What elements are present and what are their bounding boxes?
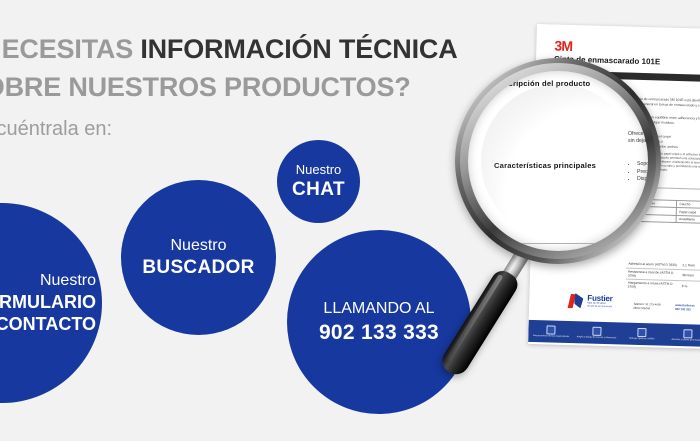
circle-buscador-bottom: BUSCADOR [142,256,254,280]
footer-band-item: Entrega rápida en 24/48 h [619,322,665,345]
circle-formulario-line1: FORMULARIO [0,291,100,313]
circle-buscador[interactable]: Nuestro BUSCADOR [121,180,276,335]
circle-telefono-number: 902 133 333 [319,320,439,346]
footer-band-item: Asesoramiento técnico especializado [528,320,574,343]
magnifier-lens: Ficha de datos técnicos Descripción del … [468,71,648,251]
circle-telefono[interactable]: LLAMANDO AL 902 133 333 [287,230,471,414]
page-title: ¿NECESITAS INFORMACIÓN TÉCNICA SOBRE NUE… [0,30,506,106]
circle-buscador-top: Nuestro [170,235,226,256]
customer-care-icon [683,329,692,338]
magnifying-glass-icon: Ficha de datos técnicos Descripción del … [455,58,661,264]
3m-logo: 3M [554,37,572,53]
z-descripcion-text-2: Ofrece un buen equilibrio entre adherenc… [628,131,648,145]
circle-telefono-top: LLAMANDO AL [323,298,434,320]
magnified-document-content: Ficha de datos técnicos Descripción del … [468,71,648,251]
footer-band-caption: Entrega rápida en 24/48 h [629,337,654,341]
footer-band-item: Atención al cliente personalizada [665,324,700,347]
headline-prefix: ¿NECESITAS [0,34,140,64]
banner-canvas: ¿NECESITAS INFORMACIÓN TÉCNICA SOBRE NUE… [0,0,700,441]
circle-formulario-top: Nuestro [40,271,100,291]
catalog-icon [592,326,601,335]
subtitle: Encuéntrala en: [0,118,112,141]
fustier-tagline-2: al lado de la innovación [587,305,612,308]
footer-web-phone: 902 133 333 [675,308,695,312]
list-item: Disponible en varios anchos [637,176,648,184]
footer-band-caption: Amplio catálogo de marcas y referencias [577,336,617,340]
headline-strong: INFORMACIÓN TÉCNICA [140,34,457,64]
z-section-descripcion: Descripción del producto [494,79,590,88]
list-item: Precio económico [637,169,648,177]
circle-formulario-contacto[interactable]: Nuestro FORMULARIO DE CONTACTO [0,203,102,403]
circle-chat[interactable]: Nuestro CHAT [277,140,360,223]
circle-chat-bottom: CHAT [292,178,345,201]
circle-chat-top: Nuestro [296,162,342,178]
footer-contact: Teléfono: 91 279 4600 28011 Madrid [633,303,661,311]
footer-band-item: Amplio catálogo de marcas y referencias [574,321,620,344]
cell: 38 N/cm [680,269,700,281]
z-descripcion-text: La cinta de enmascarado 3M 101E está dis… [628,93,648,107]
footer-band: Asesoramiento técnico especializado Ampl… [528,320,700,347]
z-divider [494,243,648,244]
circle-formulario-line2: DE CONTACTO [0,313,100,335]
support-icon [547,325,556,334]
z-caracteristicas-list: Soporte de papel crepé Precio económico … [628,161,648,184]
headline-line2: SOBRE NUESTROS PRODUCTOS? [0,68,506,106]
fustier-logo: Fustier Más de 50 años al lado de la inn… [569,293,613,309]
footer-band-caption: Asesoramiento técnico especializado [533,335,569,339]
caracteristicas-note: Su papel crepé y el adhesivo base caucho… [659,151,700,173]
delivery-icon [638,328,647,337]
cell: Amarillento [676,215,700,223]
fustier-mark-icon [569,293,585,308]
list-item: Soporte de papel crepé [637,161,648,169]
z-section-caracteristicas: Características principales [494,161,596,170]
document-footer: Fustier Más de 50 años al lado de la inn… [528,286,700,349]
footer-band-caption: Atención al cliente personalizada [671,338,700,342]
footer-web: www.fustier.es 902 133 333 [675,304,695,312]
